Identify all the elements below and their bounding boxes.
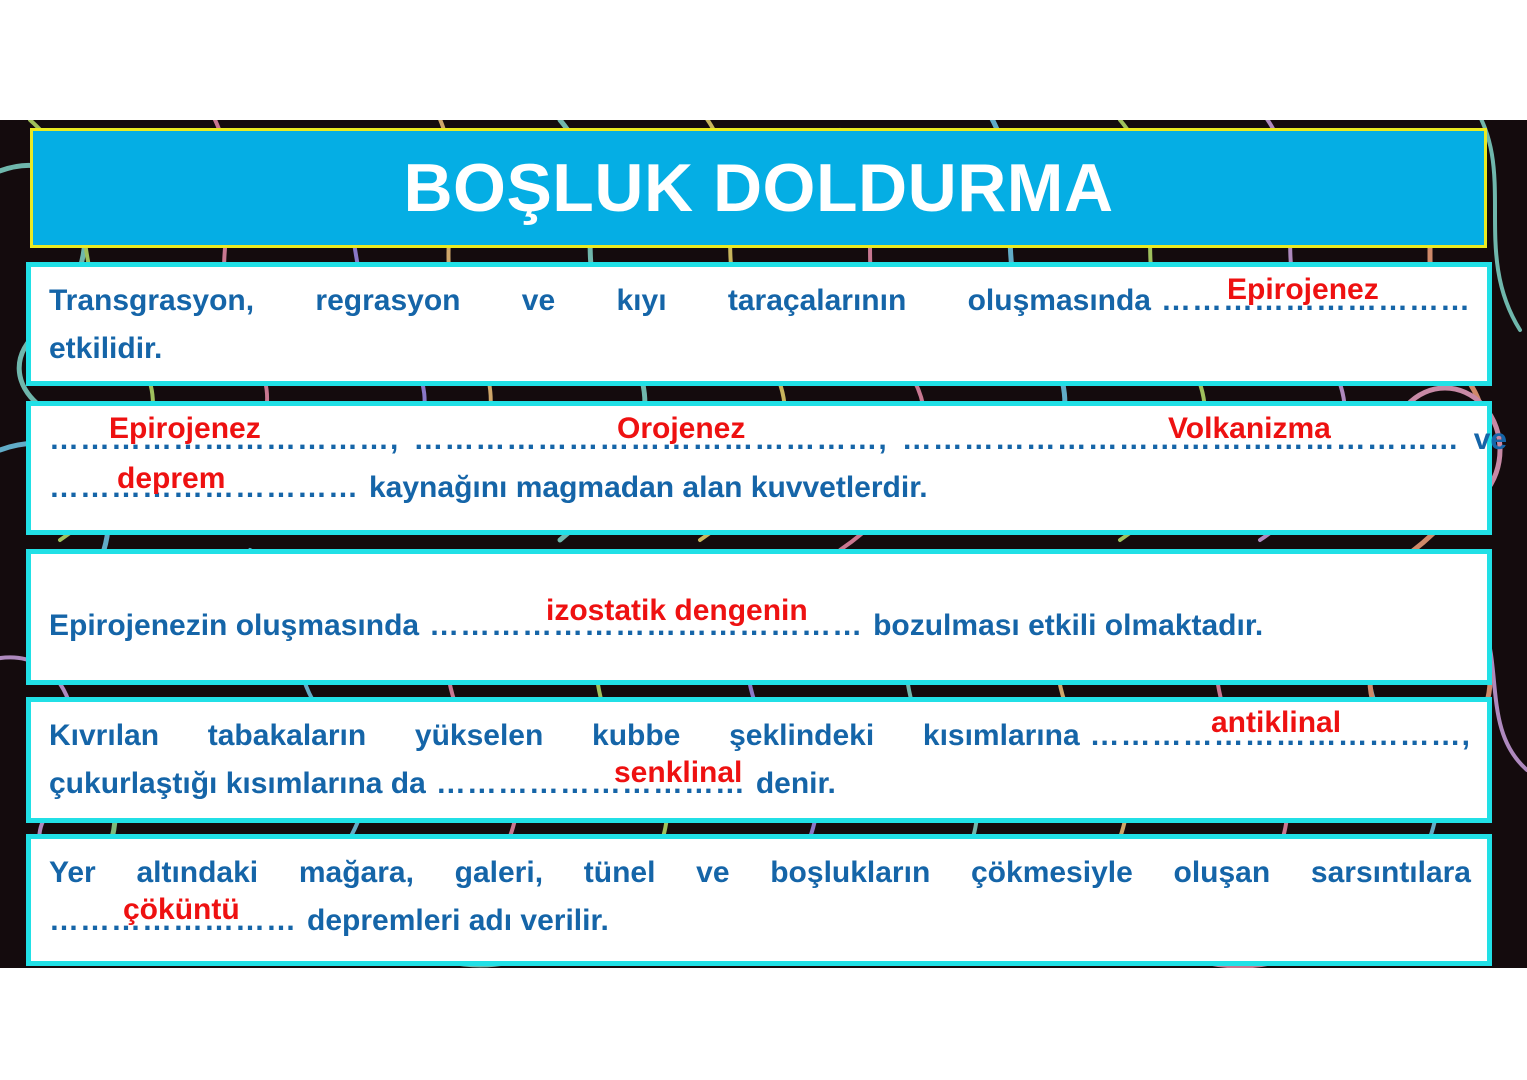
question-4-text-b: çukurlaştığı kısımlarına da xyxy=(49,767,426,800)
question-2-text-ve: ve xyxy=(1474,423,1507,456)
answer-q1-1: Epirojenez xyxy=(1227,275,1379,305)
question-box-4: Kıvrılan tabakaların yükselen kubbe şekl… xyxy=(26,697,1492,823)
question-5-text-b: depremleri adı verilir. xyxy=(307,904,609,937)
answer-q2-3: Volkanizma xyxy=(1168,414,1331,444)
question-1-text-a: Transgrasyon, regrasyon ve kıyı taraçala… xyxy=(49,284,1151,317)
answer-q2-4: deprem xyxy=(117,464,225,494)
page-title: BOŞLUK DOLDURMA xyxy=(403,154,1113,222)
slide-title-bar: BOŞLUK DOLDURMA xyxy=(30,128,1487,248)
answer-q5-1: çöküntü xyxy=(123,895,240,925)
question-5-line-2: ……………………depremleri adı verilir. xyxy=(49,897,1471,945)
question-4-text-a: Kıvrılan tabakaların yükselen kubbe şekl… xyxy=(49,719,1080,752)
question-2-line-2: …………………………kaynağını magmadan alan kuvvet… xyxy=(49,464,1471,512)
question-box-5: Yer altındaki mağara, galeri, tünel ve b… xyxy=(26,834,1492,966)
question-5-text-a: Yer altındaki mağara, galeri, tünel ve b… xyxy=(49,856,1471,889)
question-1-text-b: etkilidir. xyxy=(49,332,162,365)
question-4-line-2: çukurlaştığı kısımlarına da…………………………den… xyxy=(49,760,1471,808)
question-box-3: Epirojenezin oluşmasında……………………………………bo… xyxy=(26,549,1492,685)
answer-q4-2: senklinal xyxy=(614,758,742,788)
question-3-lead: Epirojenezin oluşmasında xyxy=(49,609,419,642)
question-3-tail: bozulması etkili olmaktadır. xyxy=(873,609,1263,642)
question-1-line-2: etkilidir. xyxy=(49,325,1471,373)
question-4-text-c: denir. xyxy=(756,767,836,800)
answer-q3-1: izostatik dengenin xyxy=(546,596,808,626)
question-box-2: ……………………………,………………………………………,………………………………… xyxy=(26,401,1492,535)
answer-q2-2: Orojenez xyxy=(617,414,745,444)
question-box-1: Transgrasyon, regrasyon ve kıyı taraçala… xyxy=(26,262,1492,386)
answer-q2-1: Epirojenez xyxy=(109,414,261,444)
slide-canvas: BOŞLUK DOLDURMA Transgrasyon, regrasyon … xyxy=(0,0,1527,1080)
question-5-line-1: Yer altındaki mağara, galeri, tünel ve b… xyxy=(49,849,1471,897)
question-2-text-tail: kaynağını magmadan alan kuvvetlerdir. xyxy=(369,471,928,504)
answer-q4-1: antiklinal xyxy=(1211,708,1341,738)
